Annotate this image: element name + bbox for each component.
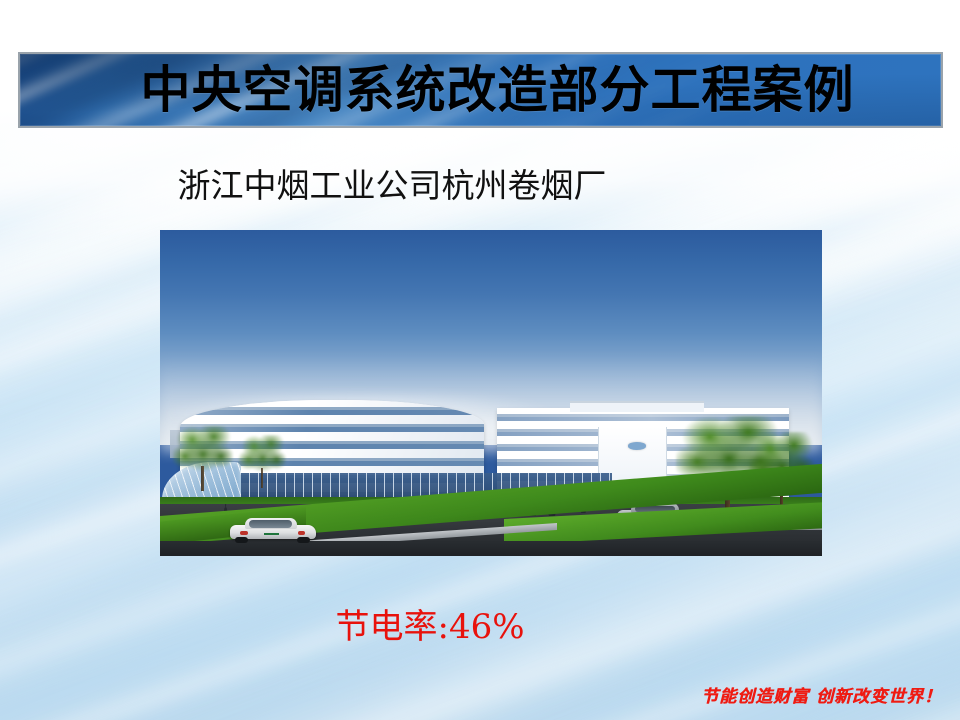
power-saving-rate-label: 节电率:46% [0, 606, 960, 648]
photo-road-front [160, 541, 822, 556]
photo-car-white [230, 519, 316, 543]
photo-tower-right-roof [570, 401, 704, 412]
title-banner: 中央空调系统改造部分工程案例 [18, 52, 943, 128]
photo-tree-left [173, 426, 233, 491]
footer-slogan: 节能创造财富 创新改变世界！ [701, 686, 942, 708]
building-photo [160, 230, 822, 556]
photo-tree-left-2 [239, 435, 285, 487]
slide-subtitle: 浙江中烟工业公司杭州卷烟厂 [0, 166, 960, 206]
slide-canvas: 中央空调系统改造部分工程案例 浙江中烟工业公司杭州卷烟厂 [0, 0, 960, 720]
photo-entrance-emblem [628, 442, 646, 449]
slide-title: 中央空调系统改造部分工程案例 [20, 54, 941, 126]
